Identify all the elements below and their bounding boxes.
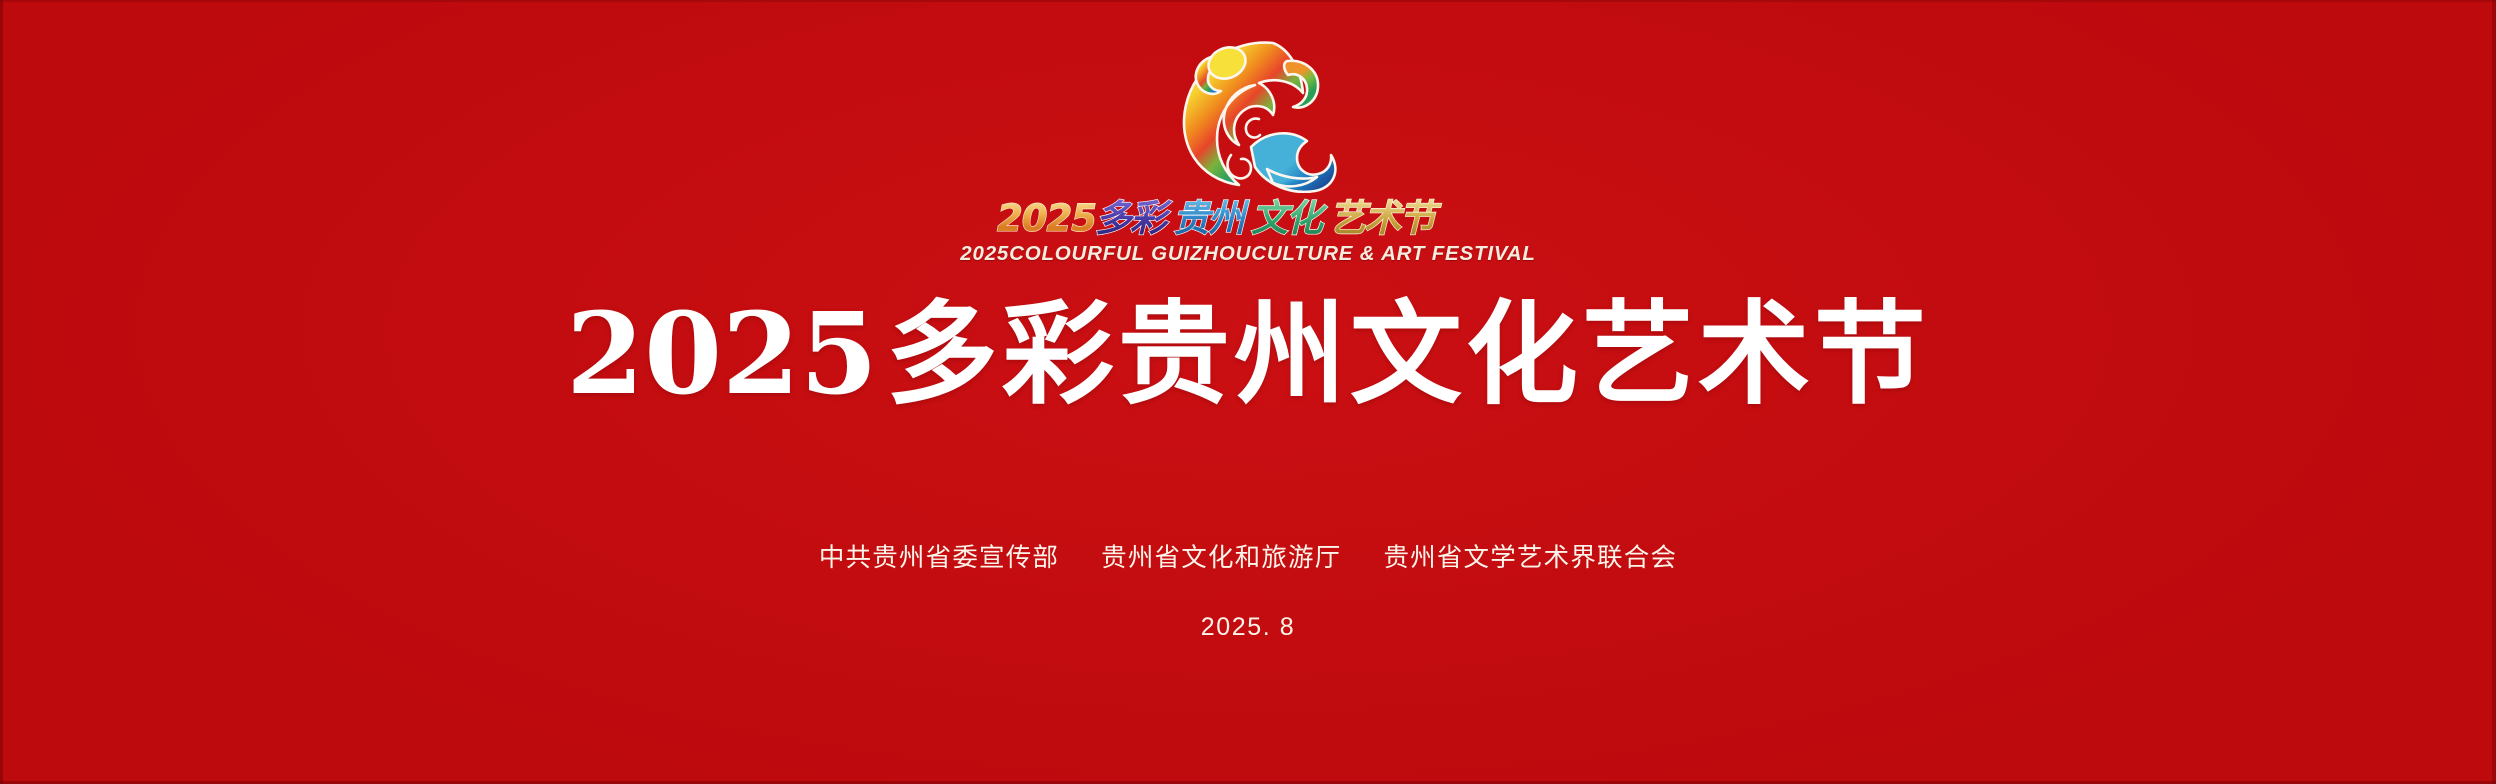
organizer-item: 中共贵州省委宣传部 [819, 537, 1059, 574]
festival-wordmark: 2025 多彩 贵州 文化 艺术节 [995, 195, 1501, 239]
event-date: 2025. 8 [1201, 613, 1296, 642]
wordmark-yishujie: 艺术节 [1329, 197, 1442, 239]
festival-english-subtitle: 2025COLOURFUL GUIZHOUCULTURE & ART FESTI… [960, 242, 1535, 266]
poster-content: 2025 多彩 贵州 文化 艺术节 2025COLOURFUL GUIZHOUC… [0, 0, 2496, 784]
title-year: 2025 [566, 289, 878, 420]
colourful-guizhou-c-emblem-icon [1155, 27, 1341, 193]
festival-logo-lockup: 2025 多彩 贵州 文化 艺术节 2025COLOURFUL GUIZHOUC… [960, 27, 1535, 266]
wordmark-guizhou: 贵州 [1173, 197, 1250, 239]
title-chinese: 多彩贵州文化艺术节 [886, 289, 1930, 420]
page-title: 2025多彩贵州文化艺术节 [566, 296, 1930, 414]
organizer-item: 贵州省文学艺术界联合会 [1383, 537, 1677, 574]
organizer-list: 中共贵州省委宣传部 贵州省文化和旅游厅 贵州省文学艺术界联合会 [819, 537, 1677, 574]
wordmark-duocai: 多彩 [1095, 197, 1173, 239]
organizer-item: 贵州省文化和旅游厅 [1101, 537, 1341, 574]
wordmark-year: 2025 [997, 197, 1096, 239]
wordmark-wenhua: 文化 [1251, 197, 1328, 239]
festival-poster: 2025 多彩 贵州 文化 艺术节 2025COLOURFUL GUIZHOUC… [0, 0, 2496, 784]
